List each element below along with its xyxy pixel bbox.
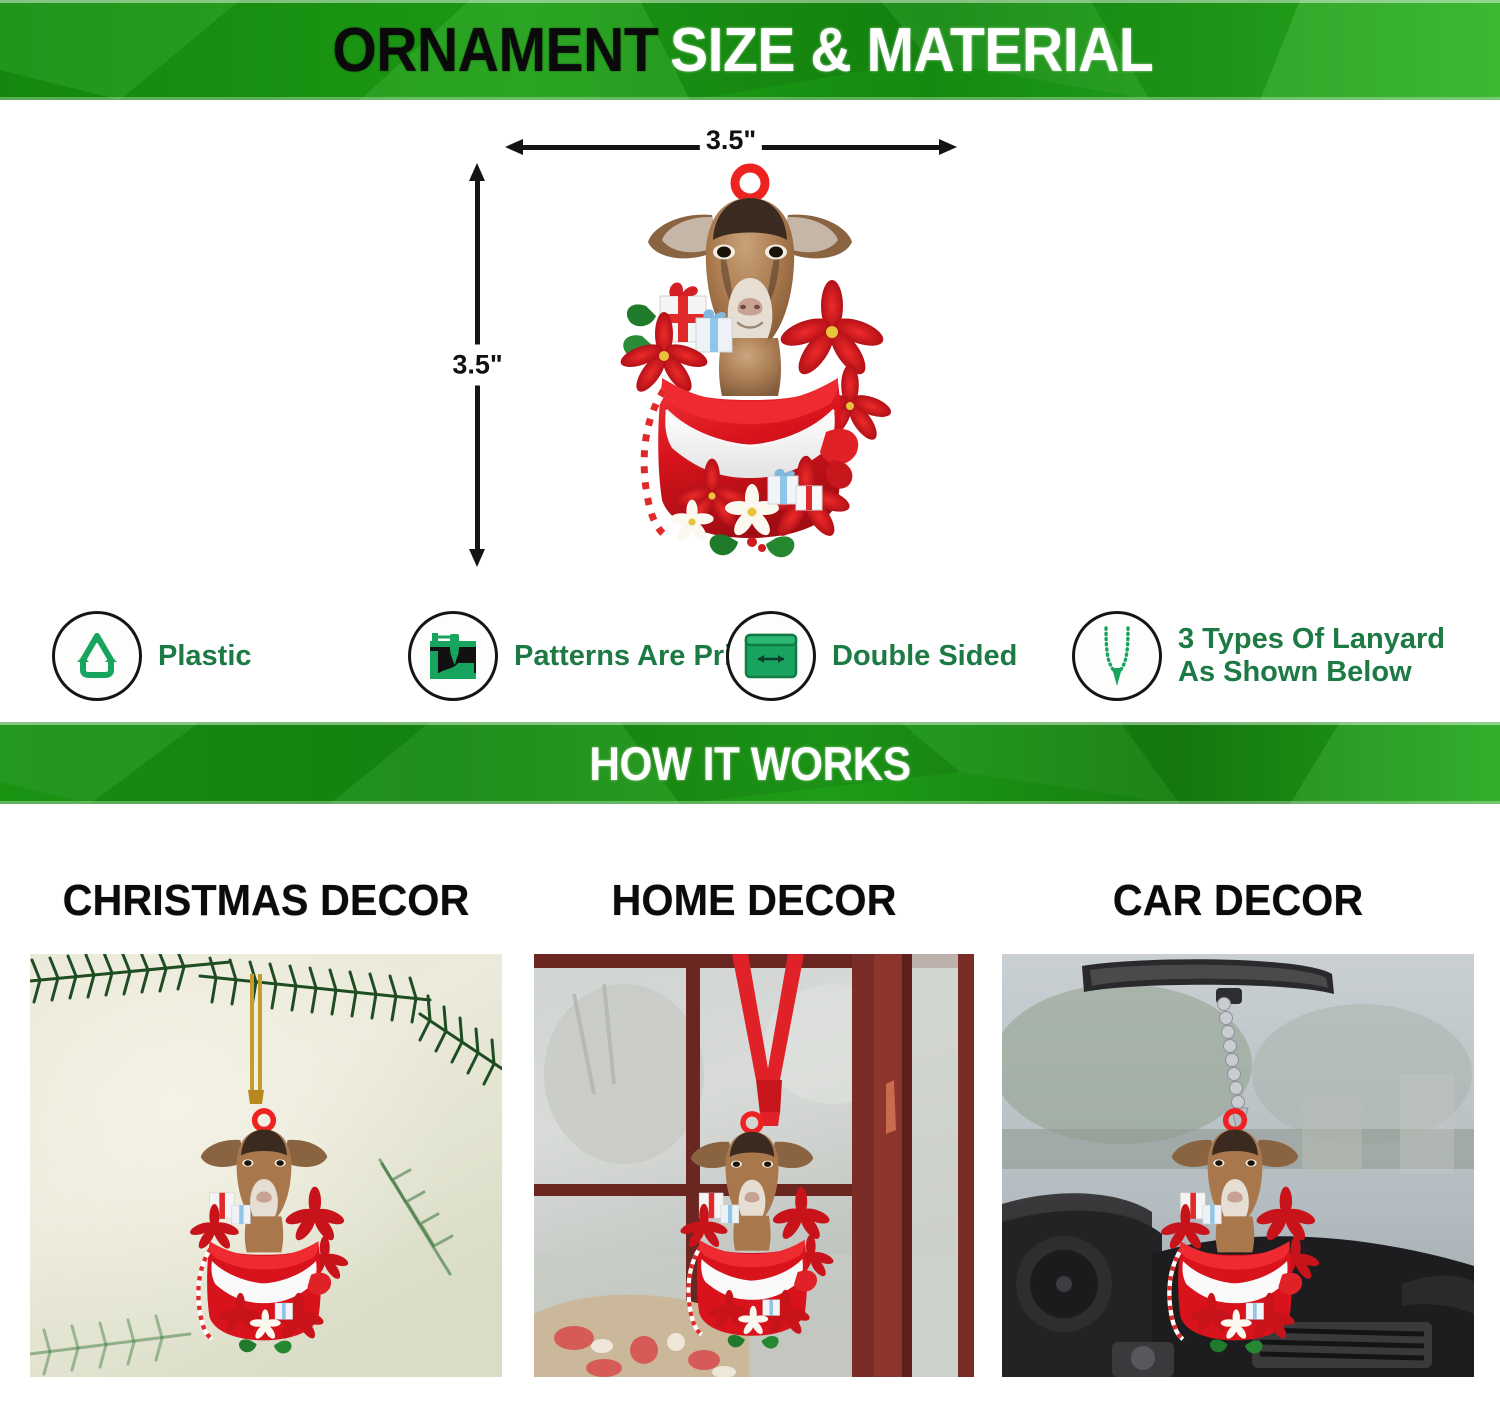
banner-top-edge <box>0 0 1500 3</box>
header-banner-size-material: ORNAMENT SIZE & MATERIAL <box>0 0 1500 100</box>
height-label: 3.5" <box>452 345 502 386</box>
feature-double-sided-label: Double Sided <box>832 640 1017 673</box>
width-label: 3.5" <box>700 125 762 156</box>
gallery-title-car: CAR DECOR <box>1016 876 1460 926</box>
gallery-photo-car <box>1002 954 1474 1377</box>
banner-bottom-edge <box>0 801 1500 804</box>
feature-lanyard-label: 3 Types Of Lanyard As Shown Below <box>1178 623 1458 689</box>
header-title-dark: ORNAMENT <box>333 15 659 86</box>
product-ornament-image <box>600 160 900 570</box>
gallery-photo-christmas <box>30 954 502 1377</box>
gallery-title-home: HOME DECOR <box>547 876 961 926</box>
feature-plastic: Plastic <box>52 596 252 716</box>
how-it-works-gallery: CHRISTMAS DECOR <box>0 804 1500 1417</box>
how-it-works-title: HOW IT WORKS <box>75 722 1425 804</box>
arrow-head-right-icon <box>939 139 957 155</box>
width-dimension-arrow: 3.5" <box>505 139 957 155</box>
lanyard-icon <box>1072 611 1162 701</box>
gallery-item-car-decor: CAR DECOR <box>1002 804 1474 1377</box>
feature-lanyard: 3 Types Of Lanyard As Shown Below <box>1072 596 1458 716</box>
printer-icon <box>408 611 498 701</box>
recycle-icon <box>52 611 142 701</box>
feature-row: Plastic Patterns Are Printed <box>0 596 1500 716</box>
gallery-item-home-decor: HOME DECOR <box>534 804 974 1377</box>
height-dimension-arrow: 3.5" <box>469 163 486 567</box>
banner-bottom-edge <box>0 97 1500 100</box>
header-title: ORNAMENT SIZE & MATERIAL <box>0 0 1500 100</box>
feature-double-sided: Double Sided <box>726 596 1017 716</box>
feature-plastic-label: Plastic <box>158 640 252 673</box>
banner-top-edge <box>0 722 1500 725</box>
gallery-title-christmas: CHRISTMAS DECOR <box>44 876 488 926</box>
how-it-works-banner: HOW IT WORKS <box>0 722 1500 804</box>
gallery-item-christmas-decor: CHRISTMAS DECOR <box>30 804 502 1377</box>
header-title-light: SIZE & MATERIAL <box>670 15 1153 86</box>
double-sided-icon <box>726 611 816 701</box>
gallery-photo-home <box>534 954 974 1377</box>
product-infographic-page: ORNAMENT SIZE & MATERIAL 3.5" 3.5" <box>0 0 1500 1417</box>
arrow-head-down-icon <box>469 549 485 567</box>
